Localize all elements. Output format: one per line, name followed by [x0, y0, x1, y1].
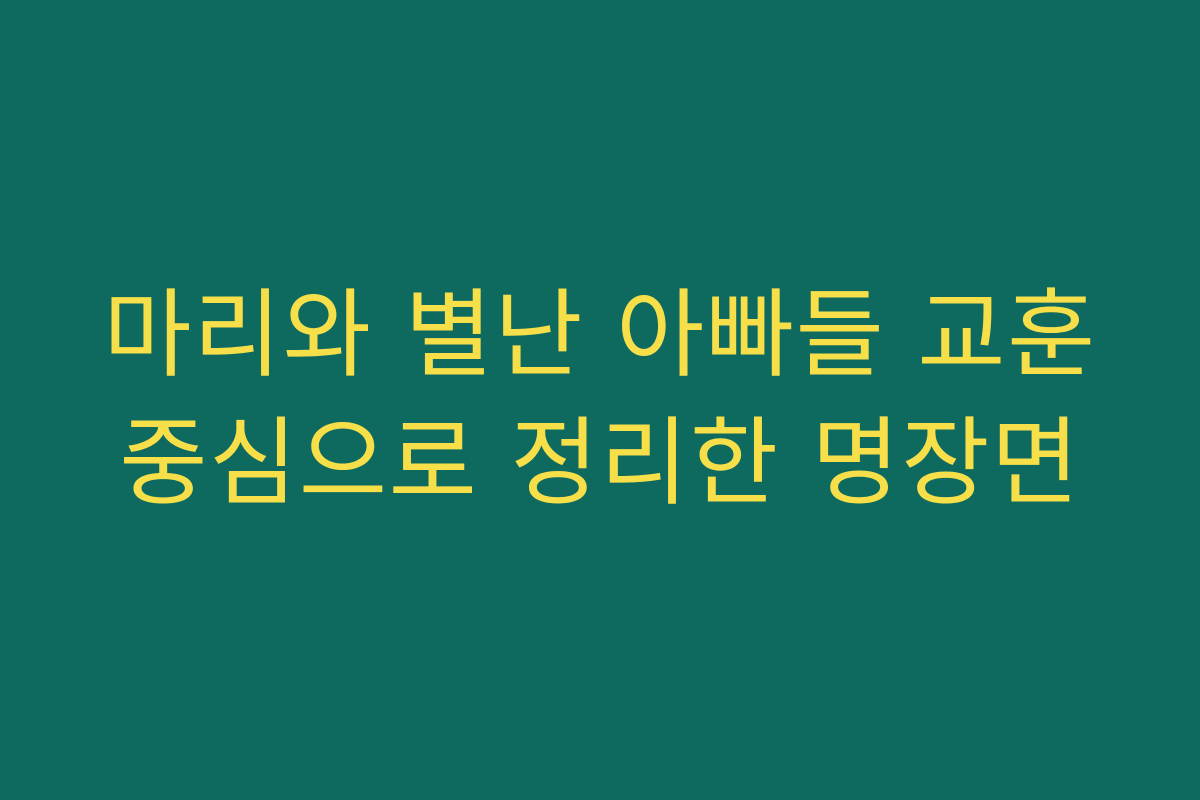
page-title: 마리와 별난 아빠들 교훈 중심으로 정리한 명장면: [60, 272, 1140, 527]
title-card: 마리와 별난 아빠들 교훈 중심으로 정리한 명장면: [0, 0, 1200, 800]
headline-block: 마리와 별난 아빠들 교훈 중심으로 정리한 명장면: [40, 272, 1160, 527]
